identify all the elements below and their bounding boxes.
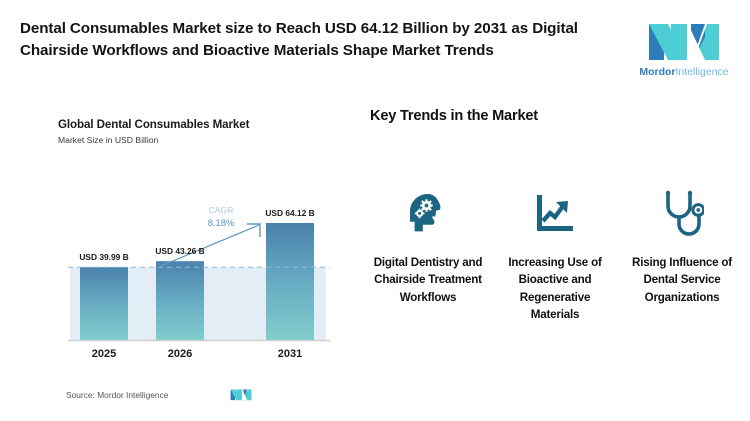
x-tick-2025: 2025: [92, 348, 116, 358]
source-logo-icon: [230, 388, 252, 401]
bar-2026: [156, 261, 204, 340]
page-header: Dental Consumables Market size to Reach …: [0, 0, 750, 95]
source-label: Source: Mordor Intelligence: [66, 390, 168, 400]
bar-label-2026: USD 43.26 B: [155, 246, 204, 256]
trend-label: Increasing Use of Bioactive and Regenera…: [497, 254, 613, 324]
chart-title: Global Dental Consumables Market: [58, 118, 358, 131]
logo-word-secondary: Intelligence: [676, 66, 729, 78]
brand-logo: MordorIntelligence: [632, 18, 736, 78]
trend-item-digital-dentistry: Digital Dentistry and Chairside Treatmen…: [370, 188, 486, 324]
bar-2025: [80, 267, 128, 340]
chart-panel: Global Dental Consumables Market Market …: [58, 118, 358, 408]
chart-source: Source: Mordor Intelligence: [66, 388, 356, 401]
chart-subtitle: Market Size in USD Billion: [58, 135, 358, 145]
logo-wordmark: MordorIntelligence: [639, 66, 728, 78]
page-title: Dental Consumables Market size to Reach …: [20, 18, 620, 63]
bar-label-2025: USD 39.99 B: [79, 252, 128, 262]
trend-item-dso: Rising Influence of Dental Service Organ…: [624, 188, 740, 324]
bar-chart: USD 39.99 B USD 43.26 B USD 64.12 B CAGR…: [58, 168, 338, 358]
x-tick-2031: 2031: [278, 348, 302, 358]
cagr-value: 8.18%: [208, 217, 235, 228]
rising-chart-arrow-icon: [532, 188, 578, 240]
logo-word-primary: Mordor: [639, 66, 675, 78]
x-tick-2026: 2026: [168, 348, 192, 358]
key-trends-heading: Key Trends in the Market: [370, 108, 740, 124]
bar-label-2031: USD 64.12 B: [265, 208, 314, 218]
trend-label: Digital Dentistry and Chairside Treatmen…: [370, 254, 486, 306]
bar-2031: [266, 223, 314, 341]
trend-item-bioactive-materials: Increasing Use of Bioactive and Regenera…: [497, 188, 613, 324]
cagr-caption: CAGR: [209, 205, 234, 215]
mordor-logo-icon: [647, 20, 721, 62]
stethoscope-icon: [660, 188, 704, 240]
head-with-gears-icon: [406, 188, 450, 240]
trend-label: Rising Influence of Dental Service Organ…: [624, 254, 740, 306]
key-trends-section: Key Trends in the Market: [370, 108, 740, 378]
key-trends-row: Digital Dentistry and Chairside Treatmen…: [370, 188, 740, 324]
